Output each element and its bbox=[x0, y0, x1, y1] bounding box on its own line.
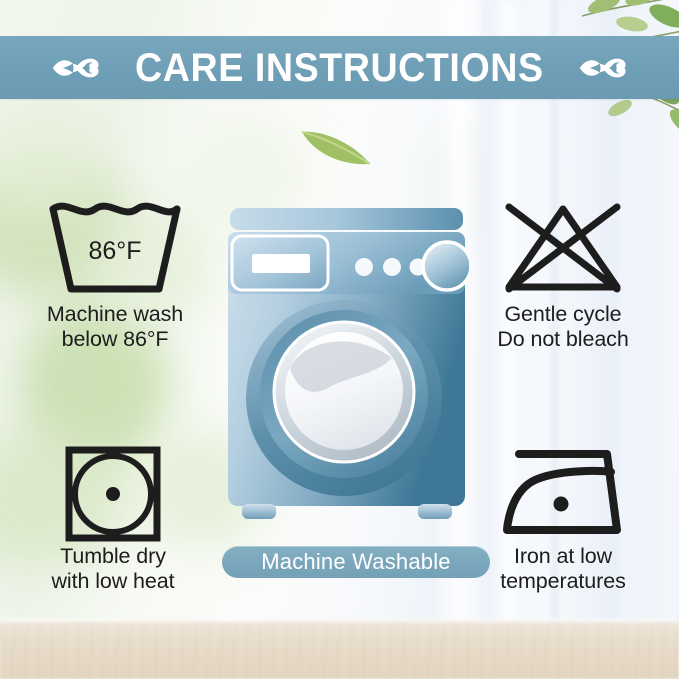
page-title: CARE INSTRUCTIONS bbox=[135, 48, 544, 88]
header-banner: CARE INSTRUCTIONS bbox=[0, 36, 679, 99]
drawer-display bbox=[252, 254, 310, 273]
care-label-line2: temperatures bbox=[458, 569, 668, 594]
care-item-tumble-dry: Tumble dry with low heat bbox=[8, 444, 218, 594]
care-label-line2: Do not bleach bbox=[458, 327, 668, 352]
wash-tub-icon: 86°F bbox=[10, 192, 220, 302]
indicator-dot bbox=[355, 258, 373, 276]
triangle-crossed-out-icon bbox=[458, 192, 668, 302]
care-label-line2: with low heat bbox=[8, 569, 218, 594]
iron-icon bbox=[458, 444, 668, 544]
infographic-canvas: CARE INSTRUCTIONS 86°F Machine wash belo… bbox=[0, 0, 679, 679]
care-label-line1: Gentle cycle bbox=[458, 302, 668, 327]
indicator-dot bbox=[383, 258, 401, 276]
badge-label: Machine Washable bbox=[261, 549, 450, 575]
machine-foot bbox=[242, 504, 276, 519]
wash-temperature-value: 86°F bbox=[88, 237, 141, 265]
care-item-do-not-bleach: Gentle cycle Do not bleach bbox=[458, 192, 668, 352]
machine-lid bbox=[230, 208, 463, 230]
care-item-iron-low: Iron at low temperatures bbox=[458, 444, 668, 594]
fleur-de-lis-icon bbox=[575, 47, 631, 89]
tumble-dry-icon bbox=[8, 444, 218, 544]
wood-grain bbox=[0, 625, 679, 679]
care-label-line1: Tumble dry bbox=[8, 544, 218, 569]
care-label-line2: below 86°F bbox=[10, 327, 220, 352]
fleur-de-lis-icon bbox=[48, 47, 104, 89]
machine-washable-badge: Machine Washable bbox=[222, 546, 490, 578]
care-item-machine-wash: 86°F Machine wash below 86°F bbox=[10, 192, 220, 352]
machine-foot bbox=[418, 504, 452, 519]
washing-machine-illustration bbox=[224, 208, 469, 533]
care-label-line1: Machine wash bbox=[10, 302, 220, 327]
